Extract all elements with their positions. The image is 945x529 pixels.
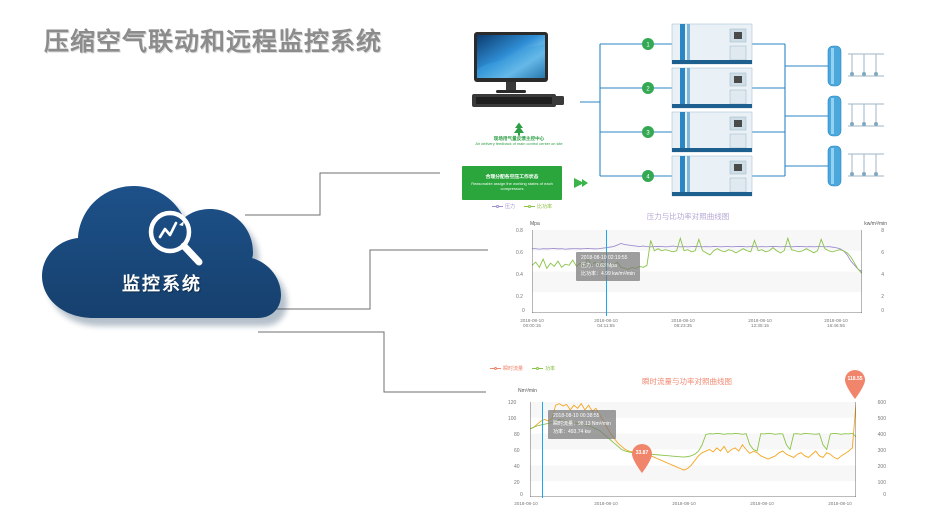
y2tick: 0: [881, 308, 884, 314]
flow-min-marker[interactable]: 33.87: [631, 444, 653, 474]
ytick: 20: [514, 480, 520, 486]
green-info-box: 合理分配各空压工作状态 Reasonable assign the workin…: [462, 166, 562, 200]
xtick-date: 2018-08-10: [574, 501, 638, 506]
y2tick: 0: [883, 492, 886, 498]
cloud-monitoring-system[interactable]: 监控系统: [34, 178, 290, 326]
legend-marker-icon: [490, 366, 501, 371]
flow-max-value: 118.55: [844, 376, 866, 382]
desktop-monitor-icon: [468, 30, 566, 118]
legend-item-pressure[interactable]: 压力: [492, 203, 515, 210]
xtick: 2018-08-10 12:35:15: [728, 318, 792, 329]
xtick-time: 00:00:15: [500, 323, 564, 328]
flow-max-marker[interactable]: 118.55: [844, 370, 866, 400]
ytick: 80: [514, 432, 520, 438]
ytick: 120: [508, 400, 516, 406]
topology-panel: 现场用气量反馈主控中心 Air delivery feedback of mai…: [440, 18, 945, 206]
pressure-y2-axis-unit: kw/m³/min: [864, 221, 887, 227]
topology-caption: 现场用气量反馈主控中心 Air delivery feedback of mai…: [458, 136, 580, 147]
xtick: 2018-08-10: [652, 501, 716, 506]
ytick: 0.2: [516, 294, 523, 300]
tree-icon: [512, 122, 526, 136]
compressor-units: [672, 24, 752, 196]
map-pin-icon: [631, 444, 653, 474]
slide-root: 压缩空气联动和远程监控系统 监控系统: [0, 0, 945, 529]
tooltip-pressure: 压力：0.63 Mpa: [581, 263, 635, 271]
pressure-chart-title: 压力与比功率对照曲线图: [488, 211, 888, 222]
pressure-chart-panel: 压力 比功率 压力与比功率对照曲线图 Mpa kw/m³/min 0.8 0.6…: [488, 200, 888, 335]
tooltip-power: 功率：493.74 kw: [553, 429, 611, 437]
magnifier-chart-icon: [142, 206, 212, 272]
y2tick: 400: [878, 432, 886, 438]
legend-label: 瞬时流量: [503, 365, 523, 372]
tooltip-time: 2018-08-10 02:19:55: [581, 255, 635, 263]
xtick-time: 04:11:55: [574, 323, 638, 328]
xtick: 2018-08-10: [808, 501, 872, 506]
xtick-date: 2018-08-10: [808, 501, 872, 506]
legend-item-power[interactable]: 功率: [532, 365, 555, 372]
xtick: 2018-08-10 04:11:55: [574, 318, 638, 329]
ytick: 0: [522, 308, 525, 314]
flow-power-chart-panel: 瞬时流量 功率 瞬时流量与功率对照曲线图 Nm³/min 120 100 80 …: [486, 362, 888, 522]
y2tick: 2: [881, 294, 884, 300]
pressure-tooltip: 2018-08-10 02:19:55 压力：0.63 Mpa 比功率：4.99…: [576, 252, 640, 281]
xtick: 2018-08-10 16:46:55: [804, 318, 868, 329]
y2tick: 8: [881, 228, 884, 234]
flow-chart-legend[interactable]: 瞬时流量 功率: [490, 365, 555, 372]
legend-marker-icon: [492, 204, 503, 209]
y2tick: 500: [878, 416, 886, 422]
xtick-time: 16:46:55: [804, 323, 868, 328]
legend-label: 压力: [505, 203, 515, 210]
xtick-time: 08:23:35: [651, 323, 715, 328]
y2tick: 600: [878, 400, 886, 406]
page-title: 压缩空气联动和远程监控系统: [44, 22, 382, 58]
y2tick: 4: [881, 272, 884, 278]
legend-item-specific-power[interactable]: 比功率: [524, 203, 552, 210]
xtick-date: 2018-08-10: [730, 501, 794, 506]
map-pin-icon: [844, 370, 866, 400]
xtick: 2018-08-10: [730, 501, 794, 506]
air-tank-group: [828, 46, 884, 186]
flow-min-value: 33.87: [631, 450, 653, 456]
xtick: 2018-08-10 08:23:35: [651, 318, 715, 329]
ytick: 100: [508, 416, 516, 422]
flow-y-axis-unit: Nm³/min: [518, 388, 537, 394]
ytick: 0.4: [516, 272, 523, 278]
tooltip-flow: 瞬时流量：98.13 Nm³/min: [553, 421, 611, 429]
topology-caption-en: Air delivery feedback of main control ce…: [458, 142, 580, 147]
flow-cursor-line: [542, 402, 543, 498]
xtick: 2018-08-10 00:00:15: [500, 318, 564, 329]
legend-marker-icon: [532, 366, 543, 371]
ytick: 0.8: [516, 228, 523, 234]
ytick: 0.6: [516, 250, 523, 256]
pressure-y-axis-unit: Mpa: [530, 221, 540, 227]
y2tick: 200: [878, 464, 886, 470]
y2tick: 100: [878, 480, 886, 486]
xtick-date: 2018-08-10: [494, 501, 558, 506]
flow-tooltip: 2018-08-10 00:38:55 瞬时流量：98.13 Nm³/min 功…: [548, 410, 616, 439]
legend-label: 比功率: [537, 203, 552, 210]
xtick: 2018-08-10: [574, 501, 638, 506]
xtick-time: 12:35:15: [728, 323, 792, 328]
tooltip-time: 2018-08-10 00:38:55: [553, 413, 611, 421]
topology-diagram: 1 2 3 4: [580, 18, 945, 206]
y2tick: 300: [878, 448, 886, 454]
ytick: 0: [520, 492, 523, 498]
legend-label: 功率: [545, 365, 555, 372]
xtick-date: 2018-08-10: [652, 501, 716, 506]
cloud-label: 监控系统: [34, 270, 290, 296]
legend-marker-icon: [524, 204, 535, 209]
tooltip-specific-power: 比功率：4.99 kw/m³/min: [581, 271, 635, 279]
flow-chart-title: 瞬时流量与功率对照曲线图: [486, 376, 888, 387]
ytick: 40: [514, 464, 520, 470]
compressor-node-group: 1 2 3 4: [642, 38, 654, 182]
xtick: 2018-08-10: [494, 501, 558, 506]
legend-item-flow[interactable]: 瞬时流量: [490, 365, 523, 372]
green-box-en: Reasonable assign the working states of …: [462, 181, 562, 191]
ytick: 60: [514, 448, 520, 454]
y2tick: 6: [881, 250, 884, 256]
pressure-chart-legend[interactable]: 压力 比功率: [492, 203, 552, 210]
